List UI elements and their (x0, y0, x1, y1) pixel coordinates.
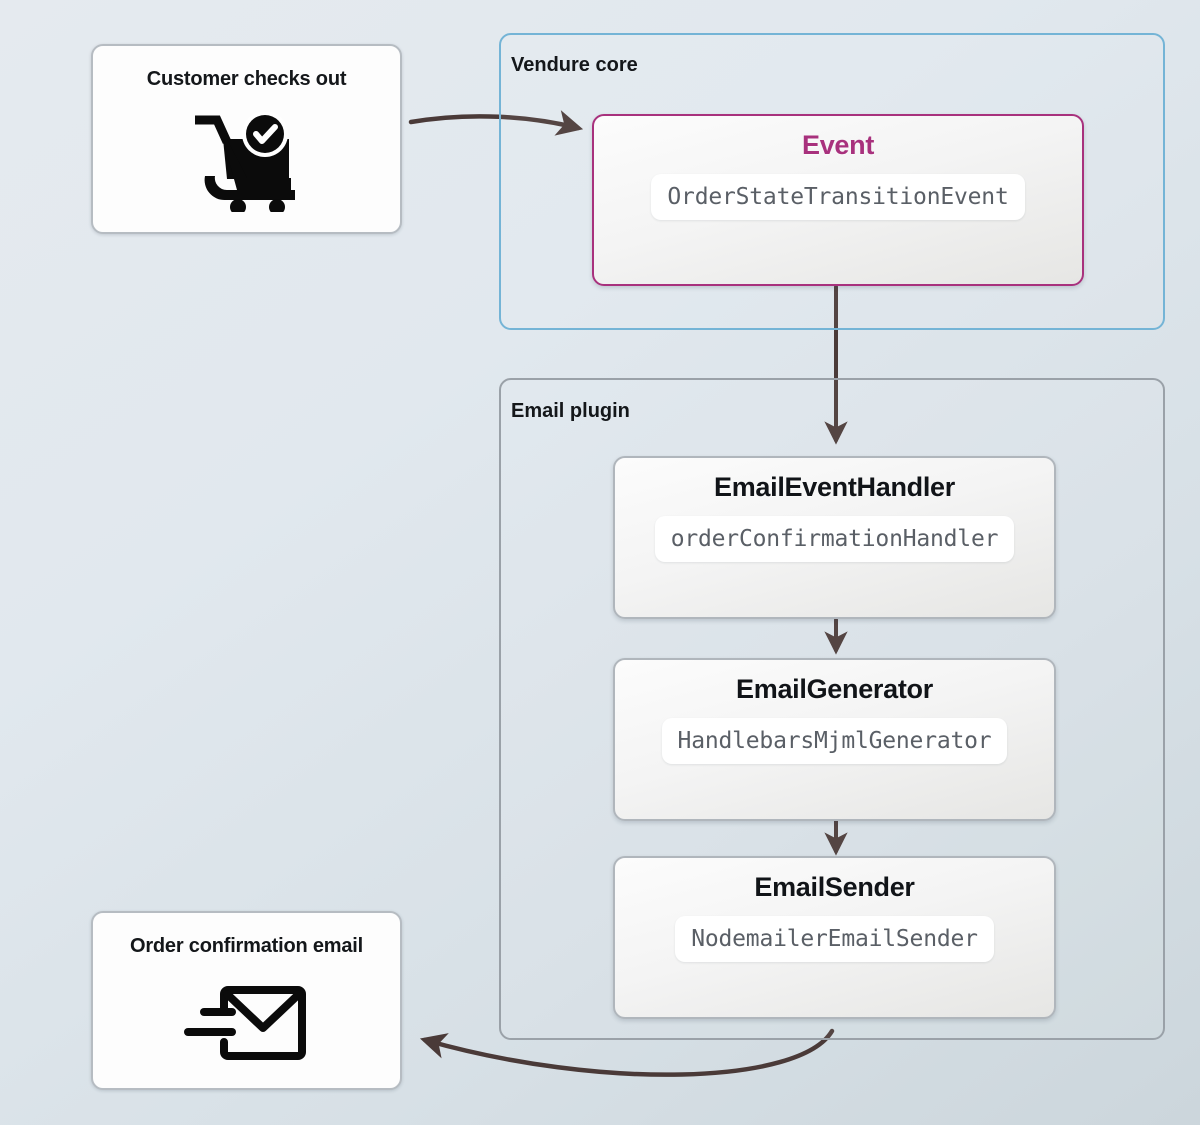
node-email-event-handler[interactable]: EmailEventHandler orderConfirmationHandl… (613, 456, 1056, 619)
endpoint-customer-checks-out[interactable]: Customer checks out (91, 44, 402, 234)
group-vendure-core-label: Vendure core (511, 54, 638, 77)
node-email-event-handler-implementation: orderConfirmationHandler (655, 516, 1015, 562)
node-event[interactable]: Event OrderStateTransitionEvent (592, 114, 1084, 286)
node-email-sender-title: EmailSender (754, 872, 914, 903)
endpoint-order-confirmation-email[interactable]: Order confirmation email (91, 911, 402, 1090)
shopping-cart-check-icon (93, 91, 400, 232)
diagram-canvas: Vendure core Email plugin Customer check… (0, 0, 1200, 1125)
node-event-title: Event (802, 130, 874, 161)
node-email-generator[interactable]: EmailGenerator HandlebarsMjmlGenerator (613, 658, 1056, 821)
group-email-plugin-label: Email plugin (511, 400, 630, 423)
node-email-event-handler-title: EmailEventHandler (714, 472, 955, 503)
endpoint-order-confirmation-email-label: Order confirmation email (130, 935, 363, 958)
endpoint-customer-checks-out-label: Customer checks out (147, 68, 347, 91)
envelope-send-icon (93, 958, 400, 1088)
node-email-generator-implementation: HandlebarsMjmlGenerator (662, 718, 1008, 764)
node-email-sender[interactable]: EmailSender NodemailerEmailSender (613, 856, 1056, 1019)
node-event-implementation: OrderStateTransitionEvent (651, 174, 1024, 220)
node-email-sender-implementation: NodemailerEmailSender (675, 916, 994, 962)
node-email-generator-title: EmailGenerator (736, 674, 933, 705)
